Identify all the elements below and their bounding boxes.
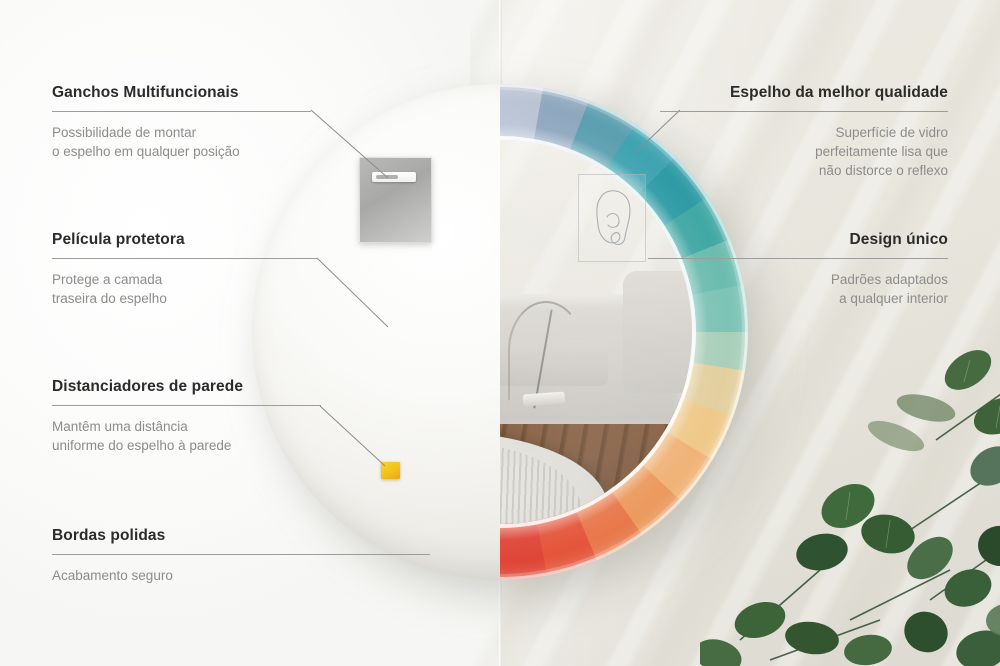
callout-desc-line-1: Padrões adaptados	[660, 270, 948, 289]
callout-desc-line-1: Acabamento seguro	[52, 566, 432, 585]
callout-desc-line-2: traseira do espelho	[52, 289, 324, 308]
infographic-canvas: Ganchos Multifuncionais Possibilidade de…	[0, 0, 1000, 666]
callout-desc-line-1: Mantêm uma distância	[52, 417, 328, 436]
callout-desc-line-2: o espelho em qualquer posição	[52, 142, 318, 161]
callout-design-unico: Design único Padrões adaptados a qualque…	[660, 231, 948, 308]
callout-espelho-da-melhor-qualidade: Espelho da melhor qualidade Superfície d…	[660, 84, 948, 180]
callout-title: Espelho da melhor qualidade	[660, 84, 948, 102]
callout-title: Película protetora	[52, 231, 324, 249]
callout-desc-line-3: não distorce o reflexo	[660, 161, 948, 180]
callout-rule	[52, 258, 317, 259]
reflection-arc-lamp	[508, 301, 585, 401]
callout-desc-line-2: perfeitamente lisa que	[660, 142, 948, 161]
callout-rule	[660, 111, 948, 112]
callout-title: Distanciadores de parede	[52, 378, 328, 396]
etched-logo-plate	[578, 174, 646, 262]
callout-desc-line-1: Possibilidade de montar	[52, 123, 318, 142]
callout-rule	[52, 405, 321, 406]
callout-title: Ganchos Multifuncionais	[52, 84, 318, 102]
callout-ganchos-multifuncionais: Ganchos Multifuncionais Possibilidade de…	[52, 84, 318, 161]
hook-slot-icon	[372, 172, 416, 182]
callout-rule	[52, 554, 430, 555]
callout-title: Design único	[660, 231, 948, 249]
callout-desc-line-1: Protege a camada	[52, 270, 324, 289]
callout-pelicula-protetora: Película protetora Protege a camada tras…	[52, 231, 324, 308]
wall-spacer-chip	[381, 462, 400, 479]
callout-rule	[52, 111, 311, 112]
mounting-hook-plate	[359, 157, 432, 243]
callout-bordas-polidas: Bordas polidas Acabamento seguro	[52, 527, 432, 585]
callout-rule	[648, 258, 948, 259]
callout-title: Bordas polidas	[52, 527, 432, 545]
callout-desc-line-1: Superfície de vidro	[660, 123, 948, 142]
callout-desc-line-2: a qualquer interior	[660, 289, 948, 308]
callout-distanciadores-de-parede: Distanciadores de parede Mantêm uma dist…	[52, 378, 328, 455]
line-art-face-icon	[585, 183, 641, 255]
callout-desc-line-2: uniforme do espelho à parede	[52, 436, 328, 455]
